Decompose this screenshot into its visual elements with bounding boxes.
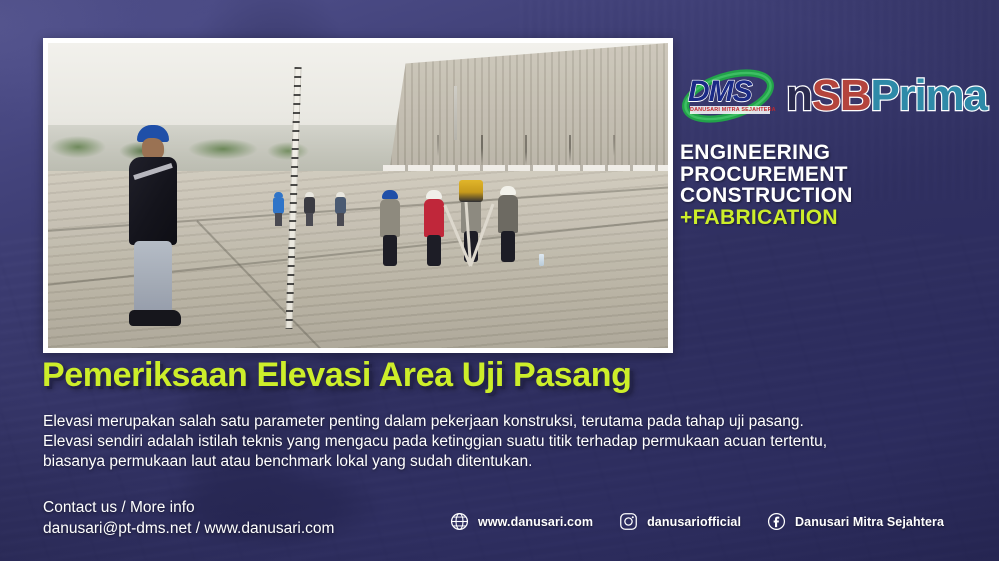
main-photo-frame — [43, 38, 673, 353]
globe-icon — [450, 512, 469, 531]
nsbprima-part-sb: SB — [812, 71, 871, 120]
social-website[interactable]: www.danusari.com — [450, 512, 593, 531]
photo-water-bottle — [539, 254, 544, 266]
photo-worker-boots — [129, 310, 181, 326]
nsbprima-part-n: n — [786, 71, 812, 120]
social-website-label: www.danusari.com — [478, 515, 593, 529]
service-construction: CONSTRUCTION — [680, 185, 990, 207]
body-line-2: Elevasi sendiri adalah istilah teknis ya… — [43, 432, 973, 452]
photo-distant-worker — [335, 192, 346, 226]
nsbprima-wordmark: nSBPrima — [786, 74, 987, 118]
contact-detail[interactable]: danusari@pt-dms.net / www.danusari.com — [43, 518, 334, 539]
instagram-icon — [619, 512, 638, 531]
photo-antenna-tower — [454, 86, 457, 140]
service-fabrication: +FABRICATION — [680, 207, 990, 229]
social-instagram[interactable]: danusariofficial — [619, 512, 741, 531]
service-engineering: ENGINEERING — [680, 142, 990, 164]
social-links: www.danusari.com danusariofficial Danusa… — [450, 512, 944, 531]
facebook-icon — [767, 512, 786, 531]
services-list: ENGINEERING PROCUREMENT CONSTRUCTION +FA… — [680, 142, 990, 228]
dms-logo-wordmark: DMS — [688, 75, 752, 109]
social-facebook[interactable]: Danusari Mitra Sejahtera — [767, 512, 944, 531]
photo-worker-blue-helmet — [379, 190, 401, 266]
brand-block: DMS DANUSARI MITRA SEJAHTERA nSBPrima EN… — [680, 62, 990, 228]
main-photo — [48, 43, 668, 348]
contact-block: Contact us / More info danusari@pt-dms.n… — [43, 497, 334, 539]
photo-treeline — [48, 125, 432, 177]
contact-label: Contact us / More info — [43, 497, 334, 518]
photo-survey-tripod — [441, 180, 501, 266]
poster-canvas: DMS DANUSARI MITRA SEJAHTERA nSBPrima EN… — [0, 0, 999, 561]
dms-logo: DMS DANUSARI MITRA SEJAHTERA — [680, 66, 776, 126]
photo-distant-worker — [304, 192, 315, 226]
body-paragraph: Elevasi merupakan salah satu parameter p… — [43, 412, 973, 472]
nsbprima-part-prima: Prima — [870, 71, 986, 120]
service-procurement: PROCUREMENT — [680, 164, 990, 186]
page-title: Pemeriksaan Elevasi Area Uji Pasang — [42, 356, 632, 395]
social-instagram-label: danusariofficial — [647, 515, 741, 529]
photo-foreground-worker — [129, 125, 185, 330]
photo-theodolite — [459, 180, 483, 202]
dms-logo-subtitle: DANUSARI MITRA SEJAHTERA — [690, 106, 770, 114]
photo-worker-pants — [134, 241, 172, 313]
body-line-3: biasanya permukaan laut atau benchmark l… — [43, 452, 973, 472]
body-line-1: Elevasi merupakan salah satu parameter p… — [43, 412, 973, 432]
logo-row: DMS DANUSARI MITRA SEJAHTERA nSBPrima — [680, 62, 990, 130]
social-facebook-label: Danusari Mitra Sejahtera — [795, 515, 944, 529]
photo-distant-worker — [273, 192, 284, 226]
